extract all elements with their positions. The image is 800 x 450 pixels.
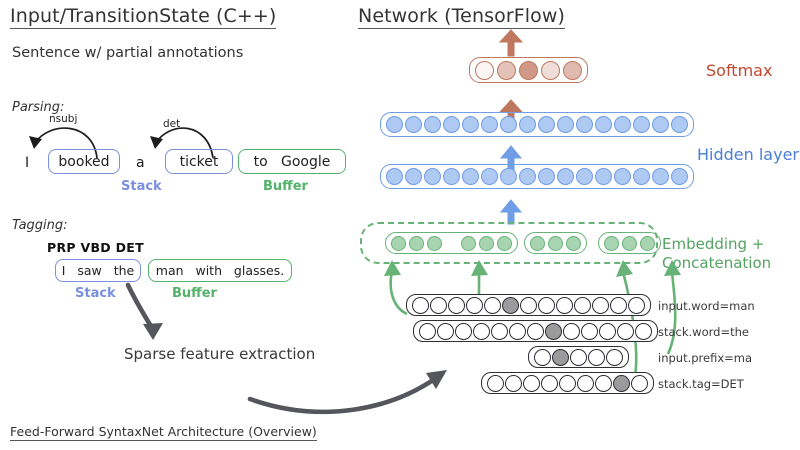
hidden-unit (500, 116, 517, 133)
hidden-layer-2 (380, 112, 694, 137)
feature-unit (631, 375, 648, 392)
feature-unit (577, 375, 594, 392)
embedding-unit (427, 236, 442, 251)
hidden-unit (633, 168, 650, 185)
hidden-unit (595, 116, 612, 133)
parsing-buffer-label: Buffer (263, 179, 308, 194)
hidden-unit (652, 116, 669, 133)
embedding-unit (530, 236, 545, 251)
feature-unit (466, 297, 483, 314)
feature-unit (448, 297, 465, 314)
hidden-unit (633, 116, 650, 133)
hidden-unit (576, 168, 593, 185)
feature-unit (523, 375, 540, 392)
feature-unit (437, 323, 454, 340)
feature-row-0 (406, 294, 651, 316)
feature-unit-active (613, 375, 630, 392)
embedding-unit (548, 236, 563, 251)
parsing-stack-box-ticket[interactable]: ticket (165, 149, 233, 174)
parsing-token-ticket: ticket (180, 154, 219, 170)
embedding-unit (566, 236, 581, 251)
feature-unit (606, 349, 623, 366)
feature-unit (635, 323, 652, 340)
softmax-unit (563, 61, 582, 80)
feature-unit (534, 349, 551, 366)
hidden-unit (424, 116, 441, 133)
feature-unit (487, 375, 504, 392)
embedding-unit (409, 236, 424, 251)
embedding-unit (479, 236, 494, 251)
tagging-stack-tokens: I saw the (62, 263, 134, 278)
tagging-stack-box[interactable]: I saw the (55, 259, 141, 282)
feature-unit (430, 297, 447, 314)
hidden-unit (519, 116, 536, 133)
parsing-token-to-google: to Google (254, 154, 331, 170)
hidden-unit (443, 168, 460, 185)
feature-row-1-label: stack.word=the (658, 325, 749, 339)
hidden-unit (557, 116, 574, 133)
feature-unit (599, 323, 616, 340)
feature-unit (538, 297, 555, 314)
tagging-pos-tags: PRP VBD DET (47, 240, 144, 255)
feature-unit (610, 297, 627, 314)
softmax-unit (497, 61, 516, 80)
hidden-unit (652, 168, 669, 185)
softmax-unit (519, 61, 538, 80)
feature-unit (419, 323, 436, 340)
tagging-buffer-tokens: man with glasses. (156, 263, 284, 278)
figure-caption: Feed-Forward SyntaxNet Architecture (Ove… (10, 424, 317, 441)
tagging-stack-label: Stack (75, 286, 116, 301)
feature-unit (628, 297, 645, 314)
hidden-unit (614, 116, 631, 133)
feature-unit (617, 323, 634, 340)
feature-unit (520, 297, 537, 314)
hidden-unit (538, 168, 555, 185)
parsing-stack-box-booked[interactable]: booked (48, 149, 120, 174)
tagging-section-label: Tagging: (12, 218, 68, 233)
hidden-unit (405, 168, 422, 185)
embedding-label-line1: Embedding + (662, 235, 771, 254)
embedding-unit (391, 236, 406, 251)
feature-unit-active (502, 297, 519, 314)
feature-unit-active (545, 323, 562, 340)
feature-row-1 (413, 320, 658, 342)
hidden-unit (576, 116, 593, 133)
feature-row-0-label: input.word=man (658, 299, 755, 313)
feature-row-2-label: input.prefix=ma (658, 351, 752, 365)
feature-unit (570, 349, 587, 366)
hidden-layer-1 (380, 164, 694, 189)
feature-unit (509, 323, 526, 340)
feature-unit (592, 297, 609, 314)
softmax-layer (469, 57, 588, 83)
tagging-buffer-box[interactable]: man with glasses. (148, 259, 292, 282)
hidden-unit (443, 116, 460, 133)
left-column-subtitle: Sentence w/ partial annotations (12, 45, 243, 61)
softmax-label: Softmax (706, 61, 772, 80)
embedding-unit (604, 236, 619, 251)
hidden-unit (481, 168, 498, 185)
softmax-unit (475, 61, 494, 80)
feature-unit (563, 323, 580, 340)
embedding-group-3 (598, 232, 661, 254)
feature-unit (484, 297, 501, 314)
arc-label-det: det (163, 118, 180, 130)
hidden-unit (481, 116, 498, 133)
softmax-unit (541, 61, 560, 80)
feature-unit (455, 323, 472, 340)
embedding-group-1 (385, 232, 518, 254)
embedding-unit (461, 236, 476, 251)
parsing-token-i: I (25, 155, 29, 171)
hidden-unit (386, 168, 403, 185)
hidden-unit (557, 168, 574, 185)
hidden-unit (671, 116, 688, 133)
arc-label-nsubj: nsubj (49, 113, 77, 125)
hidden-unit (519, 168, 536, 185)
hidden-unit (671, 168, 688, 185)
feature-unit (574, 297, 591, 314)
hidden-unit (386, 116, 403, 133)
parsing-stack-label: Stack (121, 179, 162, 194)
feature-unit (559, 375, 576, 392)
hidden-unit (500, 168, 517, 185)
hidden-unit (538, 116, 555, 133)
left-column-title: Input/TransitionState (C++) (10, 5, 276, 29)
right-column-title: Network (TensorFlow) (358, 5, 565, 29)
hidden-unit (405, 116, 422, 133)
embedding-unit (640, 236, 655, 251)
feature-row-3-label: stack.tag=DET (658, 377, 744, 391)
feature-unit (412, 297, 429, 314)
feature-unit (541, 375, 558, 392)
hidden-unit (462, 168, 479, 185)
feature-row-2 (528, 346, 629, 368)
hidden-unit (614, 168, 631, 185)
feature-unit (581, 323, 598, 340)
parsing-buffer-box[interactable]: to Google (238, 149, 346, 174)
feature-unit (527, 323, 544, 340)
tagging-to-sparse-arrow (115, 282, 195, 352)
feature-unit (595, 375, 612, 392)
feature-unit (588, 349, 605, 366)
feature-row-3 (481, 372, 654, 394)
feature-unit (505, 375, 522, 392)
embedding-unit (622, 236, 637, 251)
hidden-unit (462, 116, 479, 133)
hidden-unit (595, 168, 612, 185)
parsing-token-booked: booked (58, 154, 109, 170)
feature-unit (491, 323, 508, 340)
feature-unit (556, 297, 573, 314)
embedding-unit (497, 236, 512, 251)
parsing-token-a: a (136, 155, 145, 171)
hidden-layers-label: Hidden layers (697, 145, 800, 164)
feature-unit (473, 323, 490, 340)
hidden-unit (424, 168, 441, 185)
embedding-group-2 (524, 232, 587, 254)
feature-unit-active (552, 349, 569, 366)
